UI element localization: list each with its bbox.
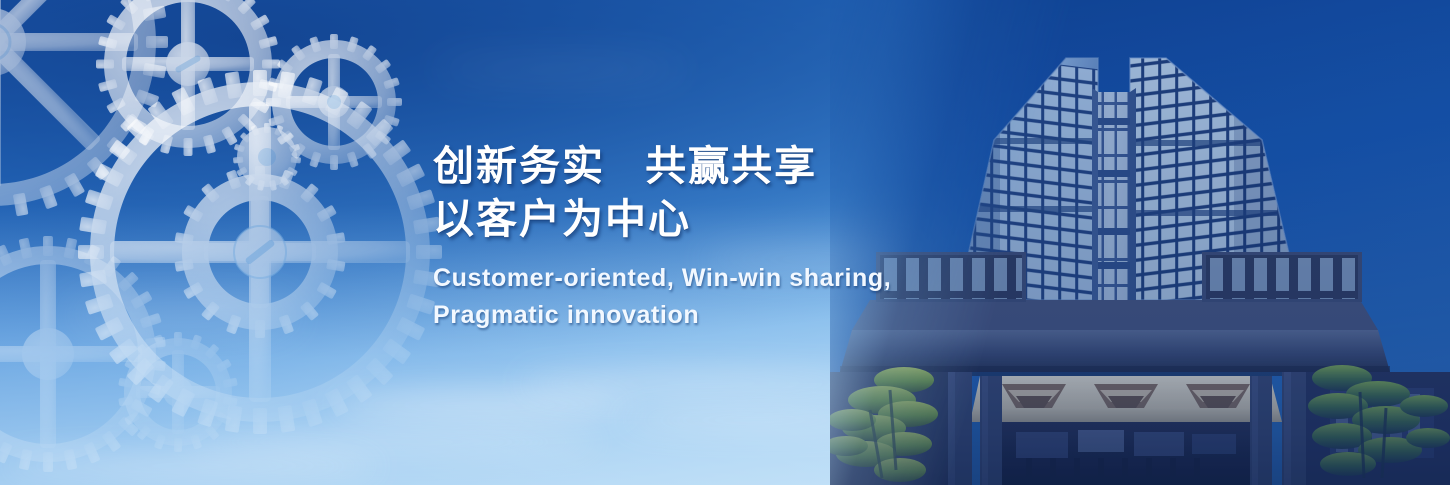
- headline-cn-line1: 创新务实 共赢共享: [433, 140, 993, 193]
- hero-banner: 创新务实 共赢共享 以客户为中心 Customer-oriented, Win-…: [0, 0, 1450, 485]
- gears-icon: [0, 0, 490, 482]
- cloud-wisp: [520, 372, 880, 394]
- headline-cn-line2: 以客户为中心: [433, 193, 993, 246]
- subhead-en-line2: Pragmatic innovation: [433, 297, 993, 334]
- subhead-en-line1: Customer-oriented, Win-win sharing,: [433, 260, 993, 297]
- banner-copy: 创新务实 共赢共享 以客户为中心 Customer-oriented, Win-…: [433, 140, 993, 334]
